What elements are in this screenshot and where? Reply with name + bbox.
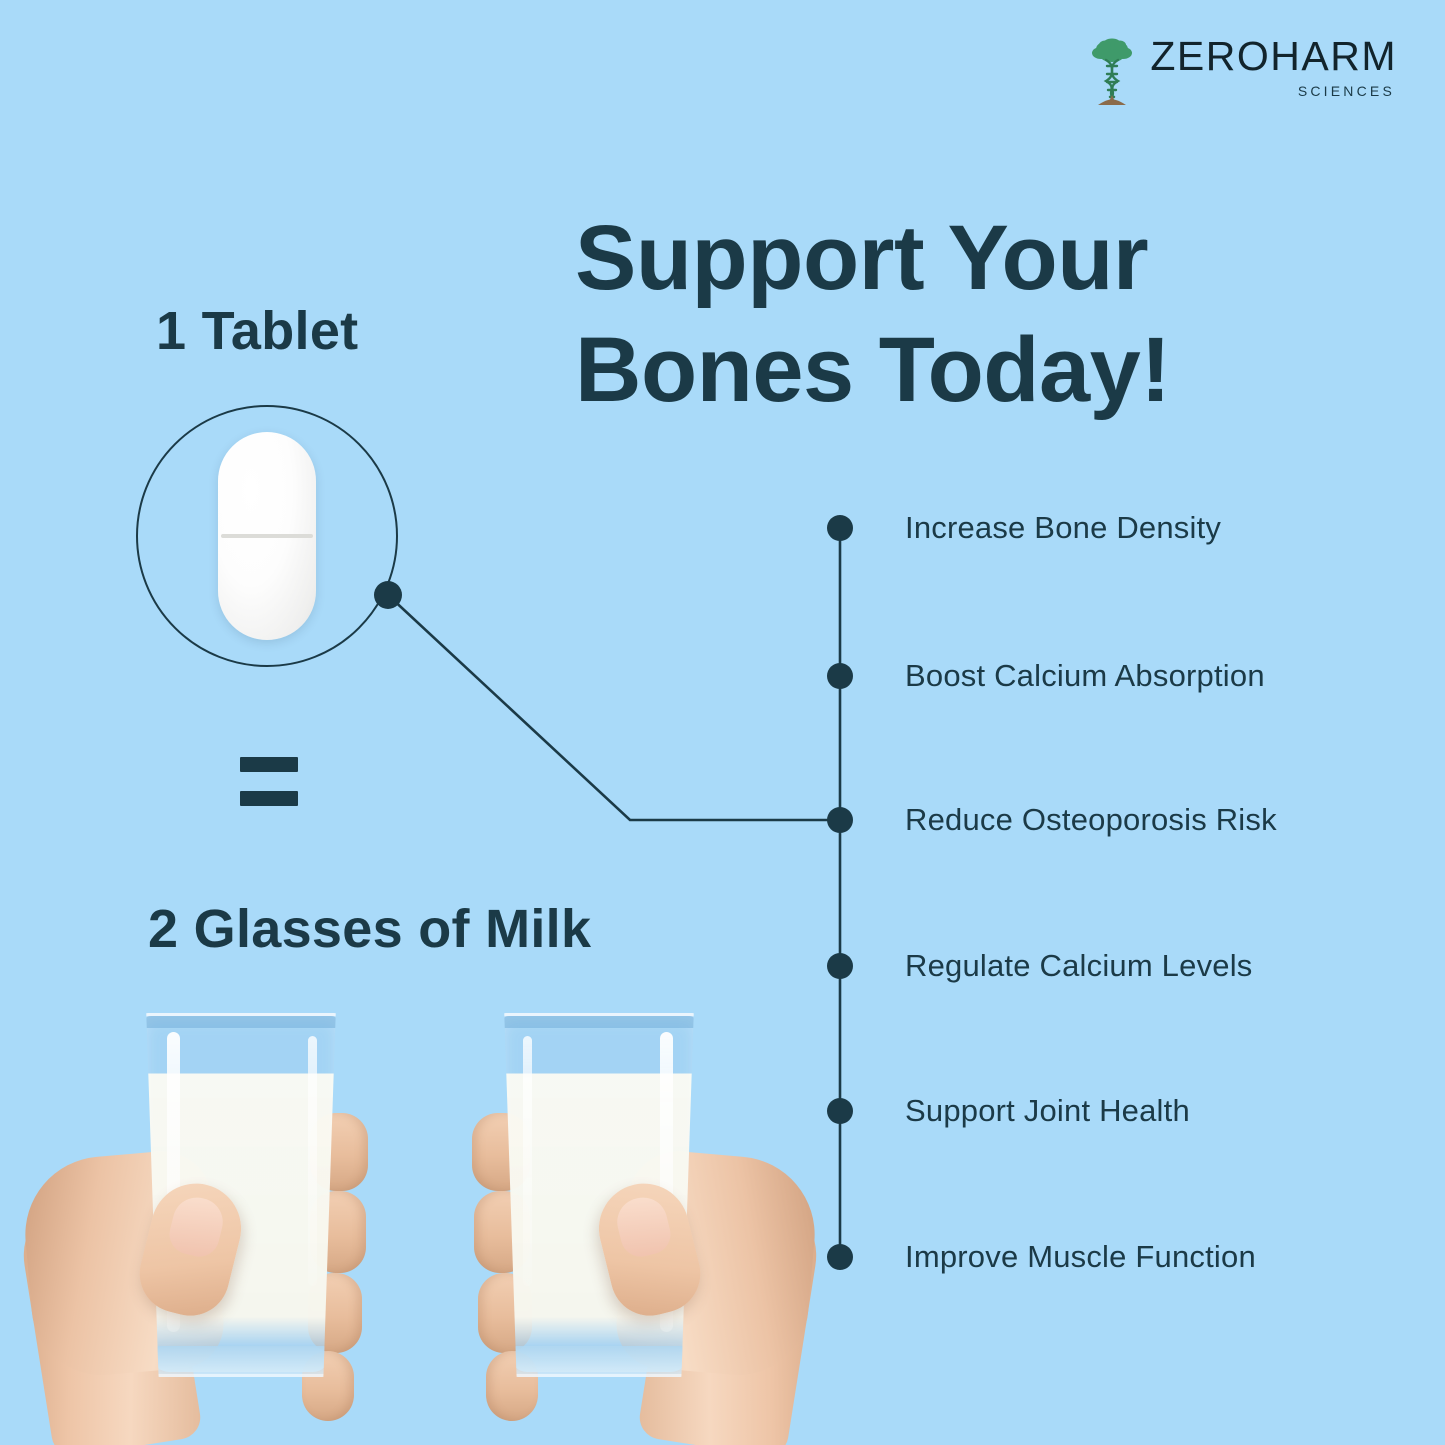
benefits-list: Increase Bone DensityBoost Calcium Absor…: [0, 0, 1445, 1445]
benefit-item-5: Support Joint Health: [905, 1093, 1190, 1129]
benefit-item-3: Reduce Osteoporosis Risk: [905, 802, 1277, 838]
benefit-bullet-dot: [827, 1098, 853, 1124]
benefit-bullet-dot: [827, 953, 853, 979]
benefit-bullet-dot: [827, 515, 853, 541]
infographic-poster: ZEROHARM SCIENCES Support Your Bones Tod…: [0, 0, 1445, 1445]
benefit-item-6: Improve Muscle Function: [905, 1239, 1256, 1275]
benefit-item-4: Regulate Calcium Levels: [905, 948, 1253, 984]
benefit-bullet-dot: [827, 807, 853, 833]
benefit-bullet-dot: [827, 663, 853, 689]
benefit-bullet-dot: [827, 1244, 853, 1270]
benefit-item-2: Boost Calcium Absorption: [905, 658, 1265, 694]
benefit-item-1: Increase Bone Density: [905, 510, 1221, 546]
